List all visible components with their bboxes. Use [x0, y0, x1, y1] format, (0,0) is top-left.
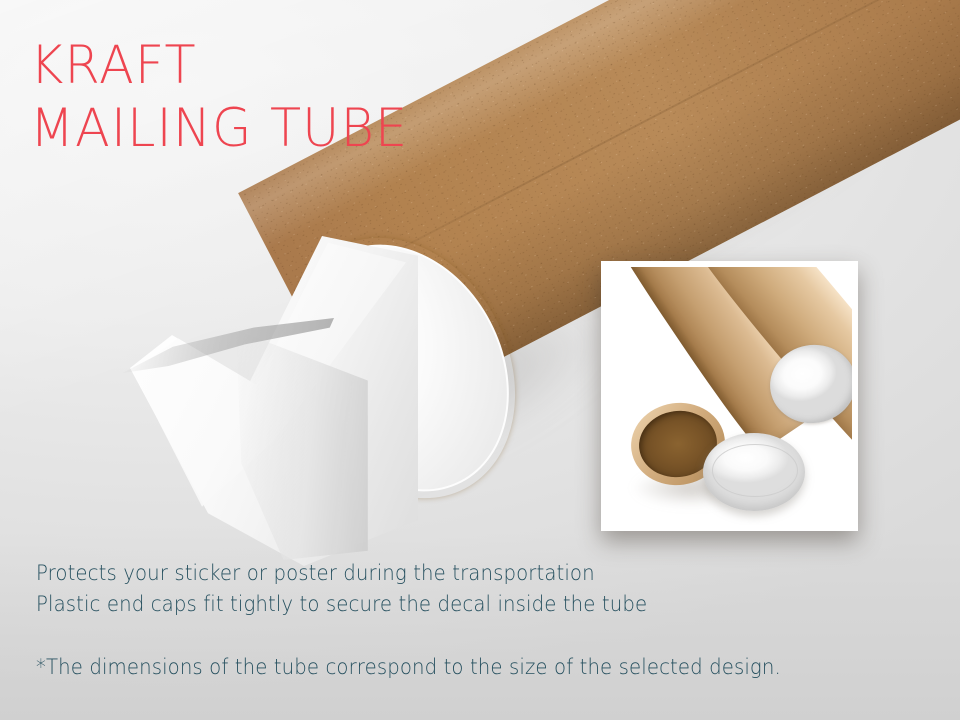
inset-product-photo: [601, 261, 858, 531]
product-banner: KRAFT MAILING TUBE Protects your sticker…: [0, 0, 960, 720]
feature-description: Protects your sticker or poster during t…: [36, 558, 647, 620]
footnote-text: *The dimensions of the tube correspond t…: [36, 655, 781, 679]
page-title: KRAFT MAILING TUBE: [30, 34, 408, 160]
inset-end-cap-loose: [703, 433, 805, 511]
inset-photo-canvas: [607, 267, 852, 525]
